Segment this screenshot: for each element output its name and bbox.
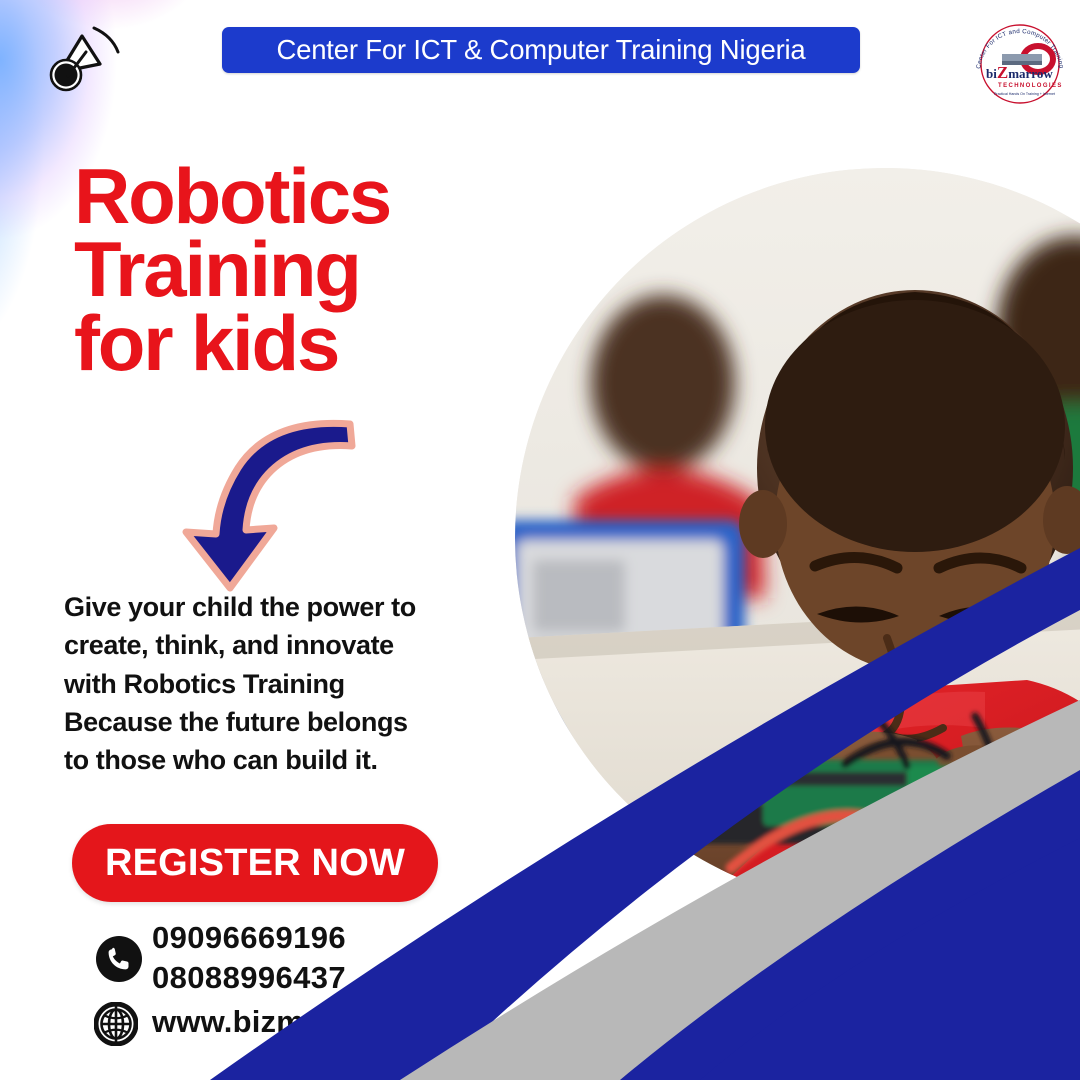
body-line-5: to those who can build it. [64,741,534,779]
headline-line-2: Training [74,233,514,306]
logo-tagline: Practical Hands On Training + Internet [994,92,1055,96]
register-now-label: REGISTER NOW [105,842,405,885]
contact-block: 09096669196 08088996437 www.bizmarrow.co… [96,920,526,1050]
register-now-button[interactable]: REGISTER NOW [72,824,438,902]
svg-text:biZmarrow: biZmarrow [986,63,1053,82]
hero-photo [515,168,1080,908]
banner-title: Center For ICT & Computer Training Niger… [276,34,805,66]
curved-down-arrow-icon [152,412,362,592]
phone-number-1[interactable]: 09096669196 [152,918,346,958]
headline-line-1: Robotics [74,160,514,233]
logo-sub: TECHNOLOGIES [998,83,1063,89]
body-line-4: Because the future belongs [64,703,534,741]
bizmarrow-logo[interactable]: Center For ICT and Computer Training biZ… [968,12,1072,112]
header-banner: Center For ICT & Computer Training Niger… [222,27,860,73]
phone-group: 09096669196 08088996437 [96,920,526,1000]
phone-icon[interactable] [96,936,142,982]
logo-z: Z [997,63,1008,82]
body-line-1: Give your child the power to [64,588,534,626]
page-title: Robotics Training for kids [74,160,514,380]
globe-icon[interactable] [94,1002,138,1046]
logo-prefix: bi [986,66,997,81]
headline-line-3: for kids [74,307,514,380]
hero-photo-illustration [515,168,1080,908]
megaphone-icon [38,18,148,113]
logo-suffix: marrow [1008,66,1053,81]
poster-canvas: Center For ICT & Computer Training Niger… [0,0,1080,1080]
phone-numbers: 09096669196 08088996437 [152,918,346,997]
website-group: www.bizmarrow.com [96,1002,526,1050]
body-paragraph: Give your child the power to create, thi… [64,588,534,780]
website-url[interactable]: www.bizmarrow.com [152,1004,461,1040]
body-line-2: create, think, and innovate [64,626,534,664]
phone-number-2[interactable]: 08088996437 [152,958,346,998]
body-line-3: with Robotics Training [64,665,534,703]
